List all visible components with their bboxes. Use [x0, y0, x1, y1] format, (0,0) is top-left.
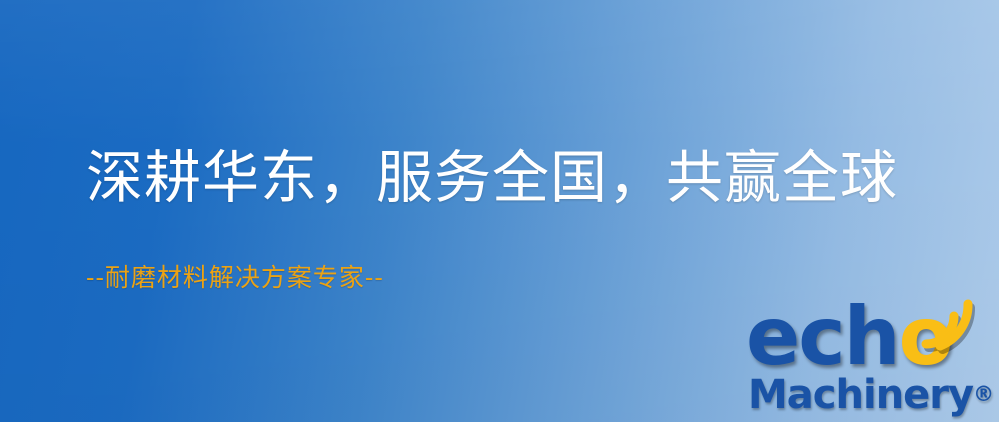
banner-subtitle: --耐磨材料解决方案专家--	[86, 265, 384, 290]
company-logo[interactable]: echo Machinery®	[746, 298, 996, 418]
promo-banner: 深耕华东，服务全国，共赢全球 --耐磨材料解决方案专家-- echo Machi…	[0, 0, 999, 422]
logo-subtext: Machinery®	[748, 372, 994, 418]
logo-word-machinery: Machinery	[748, 372, 973, 418]
banner-headline: 深耕华东，服务全国，共赢全球	[86, 150, 898, 207]
signal-arcs-icon	[912, 294, 970, 352]
logo-word-ech: ech	[746, 290, 899, 383]
registered-trademark-icon: ®	[973, 382, 994, 406]
